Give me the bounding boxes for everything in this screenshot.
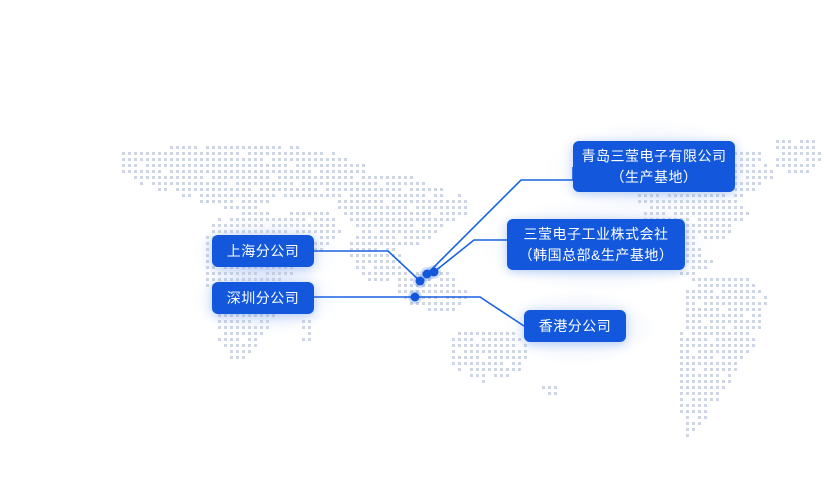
badge-korea-hq[interactable]: 三莹电子工业株式会社 （韩国总部&生产基地） [507,219,685,270]
badge-korea-line1: 三莹电子工业株式会社 [524,224,669,245]
badge-shenzhen[interactable]: 深圳分公司 [212,282,314,314]
badge-hongkong[interactable]: 香港分公司 [524,310,626,342]
badge-shanghai[interactable]: 上海分公司 [212,235,314,267]
badge-qingdao-line2: （生产基地） [611,167,698,188]
badge-hongkong-label: 香港分公司 [539,317,612,335]
badge-qingdao[interactable]: 青岛三莹电子有限公司 （生产基地） [573,141,735,192]
badge-korea-line2: （韩国总部&生产基地） [519,245,674,266]
location-badges: 青岛三莹电子有限公司 （生产基地） 三莹电子工业株式会社 （韩国总部&生产基地）… [0,0,824,480]
badge-shanghai-label: 上海分公司 [227,242,300,260]
world-map-locations-graphic: 青岛三莹电子有限公司 （生产基地） 三莹电子工业株式会社 （韩国总部&生产基地）… [0,0,824,480]
badge-shenzhen-label: 深圳分公司 [227,289,300,307]
badge-qingdao-line1: 青岛三莹电子有限公司 [582,146,727,167]
